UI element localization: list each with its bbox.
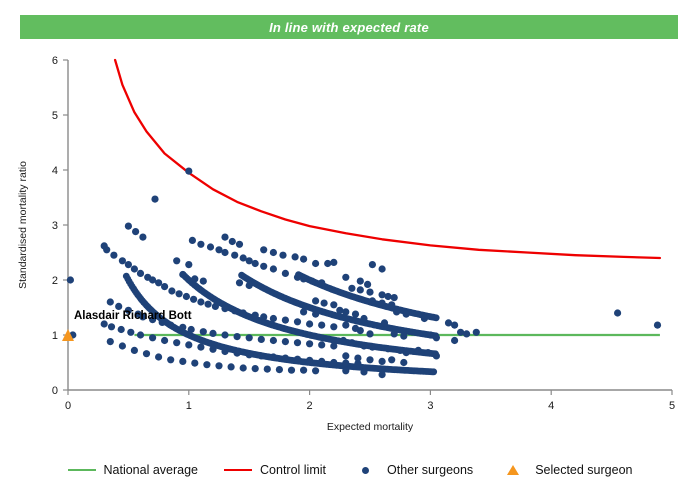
scatter-point-other-surgeon [176,290,183,297]
legend-label-other-surgeons: Other surgeons [387,463,473,477]
scatter-point-other-surgeon [366,356,373,363]
scatter-point-other-surgeon [231,307,238,314]
scatter-point-other-surgeon [318,322,325,329]
scatter-point-other-surgeon [185,168,192,175]
scatter-point-other-surgeon [246,351,253,358]
scatter-point-other-surgeon [321,300,328,307]
legend-item-other-surgeons: Other surgeons [352,463,473,477]
scatter-point-other-surgeon [300,367,307,374]
y-tick-label: 1 [52,330,58,342]
scatter-point-other-surgeon [115,303,122,310]
scatter-point-other-surgeon [433,352,440,359]
scatter-point-other-surgeon [118,326,125,333]
scatter-point-other-surgeon [191,360,198,367]
scatter-point-other-surgeon [415,347,422,354]
y-tick-label: 2 [52,275,58,287]
scatter-point-other-surgeon [379,371,386,378]
scatter-point-other-surgeon [234,333,241,340]
scatter-point-other-surgeon [221,348,228,355]
scatter-point-other-surgeon [246,334,253,341]
scatter-point-other-surgeon [207,243,214,250]
scatter-point-other-surgeon [400,359,407,366]
scatter-point-other-surgeon [215,362,222,369]
scatter-point-other-surgeon [191,275,198,282]
scatter-point-other-surgeon [342,367,349,374]
legend-item-selected-surgeon: Selected surgeon [499,463,632,477]
scatter-point-other-surgeon [366,330,373,337]
scatter-point-other-surgeon [103,246,110,253]
scatter-point-other-surgeon [393,308,400,315]
scatter-point-other-surgeon [221,305,228,312]
scatter-point-other-surgeon [369,344,376,351]
scatter-point-other-surgeon [221,249,228,256]
scatter-point-other-surgeon [357,278,364,285]
chart-container: 0123456012345Expected mortalityStandardi… [0,42,700,442]
scatter-point-other-surgeon [110,252,117,259]
y-tick-label: 0 [52,385,58,397]
scatter-point-other-surgeon [385,345,392,352]
scatter-point-other-surgeon [127,329,134,336]
scatter-point-other-surgeon [300,275,307,282]
scatter-point-other-surgeon [252,312,259,319]
scatter-point-other-surgeon [348,285,355,292]
scatter-point-other-surgeon [185,261,192,268]
scatter-point-other-surgeon [342,322,349,329]
scatter-point-other-surgeon [236,279,243,286]
scatter-point-other-surgeon [312,367,319,374]
scatter-point-other-surgeon [451,337,458,344]
scatter-point-other-surgeon [306,340,313,347]
scatter-point-other-surgeon [167,322,174,329]
chart-legend: National average Control limit Other sur… [0,455,700,485]
scatter-point-other-surgeon [282,355,289,362]
scatter-point-other-surgeon [381,319,388,326]
scatter-point-other-surgeon [200,328,207,335]
funnel-plot-svg: 0123456012345Expected mortalityStandardi… [0,42,700,442]
scatter-point-other-surgeon [403,311,410,318]
scatter-point-other-surgeon [330,301,337,308]
scatter-point-other-surgeon [308,278,315,285]
scatter-point-other-surgeon [258,336,265,343]
scatter-point-other-surgeon [229,238,236,245]
scatter-point-other-surgeon [379,265,386,272]
scatter-point-other-surgeon [107,298,114,305]
scatter-point-other-surgeon [400,333,407,340]
scatter-point-other-surgeon [360,368,367,375]
scatter-point-other-surgeon [143,350,150,357]
scatter-point-other-surgeon [379,300,386,307]
scatter-point-other-surgeon [312,297,319,304]
scatter-point-other-surgeon [385,293,392,300]
legend-item-control-limit: Control limit [224,463,326,477]
scatter-point-other-surgeon [306,357,313,364]
scatter-point-other-surgeon [379,358,386,365]
scatter-point-other-surgeon [221,331,228,338]
scatter-point-other-surgeon [131,347,138,354]
scatter-point-other-surgeon [260,246,267,253]
scatter-point-other-surgeon [209,346,216,353]
scatter-point-other-surgeon [433,334,440,341]
scatter-point-other-surgeon [430,368,437,375]
scatter-point-other-surgeon [282,270,289,277]
scatter-point-other-surgeon [108,323,115,330]
scatter-point-other-surgeon [260,263,267,270]
scatter-point-other-surgeon [240,364,247,371]
scatter-point-other-surgeon [294,318,301,325]
scatter-point-other-surgeon [342,274,349,281]
scatter-point-other-surgeon [190,296,197,303]
scatter-point-other-surgeon [252,260,259,267]
scatter-point-other-surgeon [246,282,253,289]
other-surgeons-scatter-group [67,168,661,379]
scatter-point-other-surgeon [330,342,337,349]
scatter-point-other-surgeon [264,366,271,373]
scatter-point-other-surgeon [473,329,480,336]
scatter-point-other-surgeon [654,322,661,329]
other-surgeons-dot-swatch-icon [362,467,369,474]
scatter-point-other-surgeon [231,252,238,259]
scatter-point-other-surgeon [236,241,243,248]
scatter-point-other-surgeon [357,327,364,334]
scatter-point-other-surgeon [252,365,259,372]
scatter-point-other-surgeon [161,283,168,290]
scatter-point-other-surgeon [240,309,247,316]
scatter-point-other-surgeon [234,350,241,357]
scatter-point-other-surgeon [330,323,337,330]
scatter-point-other-surgeon [294,356,301,363]
scatter-point-other-surgeon [360,315,367,322]
scatter-point-other-surgeon [357,286,364,293]
y-tick-label: 6 [52,55,58,67]
scatter-point-other-surgeon [330,259,337,266]
scatter-point-other-surgeon [185,341,192,348]
scatter-point-other-surgeon [288,367,295,374]
scatter-point-other-surgeon [463,330,470,337]
scatter-point-other-surgeon [614,309,621,316]
y-tick-label: 4 [52,165,58,177]
scatter-point-other-surgeon [212,303,219,310]
x-tick-label: 0 [65,400,71,412]
x-tick-label: 4 [548,400,554,412]
scatter-point-other-surgeon [139,234,146,241]
legend-item-national-average: National average [68,463,199,477]
control-limit-line-swatch-icon [224,469,252,471]
scatter-point-other-surgeon [342,352,349,359]
x-axis-title: Expected mortality [327,421,414,433]
scatter-point-other-surgeon [391,294,398,301]
scatter-point-other-surgeon [354,355,361,362]
scatter-point-other-surgeon [167,356,174,363]
selected-surgeon-annotation: Alasdair Richard Bott [74,310,192,322]
scatter-point-other-surgeon [183,293,190,300]
scatter-point-other-surgeon [260,313,267,320]
scatter-point-other-surgeon [451,322,458,329]
scatter-point-other-surgeon [197,241,204,248]
scatter-point-other-surgeon [282,317,289,324]
scatter-point-other-surgeon [258,352,265,359]
x-tick-label: 1 [186,400,192,412]
scatter-point-other-surgeon [306,320,313,327]
scatter-point-other-surgeon [179,358,186,365]
status-banner-label: In line with expected rate [269,20,429,35]
scatter-point-other-surgeon [348,339,355,346]
scatter-point-other-surgeon [294,274,301,281]
scatter-point-other-surgeon [203,361,210,368]
scatter-point-other-surgeon [388,356,395,363]
scatter-point-other-surgeon [119,257,126,264]
scatter-point-other-surgeon [179,324,186,331]
scatter-point-other-surgeon [364,281,371,288]
scatter-point-other-surgeon [369,297,376,304]
scatter-point-other-surgeon [221,234,228,241]
scatter-point-other-surgeon [228,363,235,370]
scatter-point-other-surgeon [132,228,139,235]
scatter-point-other-surgeon [360,342,367,349]
scatter-point-other-surgeon [67,276,74,283]
scatter-point-other-surgeon [168,287,175,294]
scatter-point-other-surgeon [388,301,395,308]
scatter-point-other-surgeon [318,358,325,365]
scatter-point-other-surgeon [352,311,359,318]
scatter-point-other-surgeon [137,331,144,338]
scatter-point-other-surgeon [318,279,325,286]
y-tick-label: 5 [52,110,58,122]
scatter-point-other-surgeon [369,261,376,268]
scatter-point-other-surgeon [119,342,126,349]
scatter-point-other-surgeon [403,349,410,356]
scatter-point-other-surgeon [292,253,299,260]
scatter-point-other-surgeon [340,337,347,344]
x-tick-label: 5 [669,400,675,412]
scatter-point-other-surgeon [270,265,277,272]
control-limit-curve [115,60,660,258]
scatter-point-other-surgeon [282,338,289,345]
scatter-point-other-surgeon [300,256,307,263]
scatter-point-other-surgeon [189,237,196,244]
scatter-point-other-surgeon [107,338,114,345]
scatter-point-other-surgeon [197,298,204,305]
scatter-point-other-surgeon [276,366,283,373]
scatter-point-other-surgeon [125,261,132,268]
legend-label-selected-surgeon: Selected surgeon [535,463,632,477]
scatter-point-other-surgeon [131,265,138,272]
scatter-point-other-surgeon [433,314,440,321]
scatter-point-other-surgeon [173,257,180,264]
scatter-point-other-surgeon [279,252,286,259]
scatter-point-other-surgeon [209,330,216,337]
scatter-point-other-surgeon [294,339,301,346]
scatter-point-other-surgeon [270,315,277,322]
scatter-point-other-surgeon [324,260,331,267]
scatter-point-other-surgeon [205,301,212,308]
legend-label-national-average: National average [104,463,199,477]
x-tick-label: 2 [307,400,313,412]
scatter-point-other-surgeon [197,344,204,351]
scatter-point-other-surgeon [137,270,144,277]
scatter-point-other-surgeon [161,337,168,344]
scatter-point-other-surgeon [312,260,319,267]
selected-surgeon-triangle-swatch-icon [507,465,519,475]
status-banner: In line with expected rate [20,15,678,39]
scatter-point-other-surgeon [366,289,373,296]
x-tick-label: 3 [427,400,433,412]
scatter-point-other-surgeon [312,311,319,318]
scatter-point-other-surgeon [424,349,431,356]
scatter-point-other-surgeon [200,278,207,285]
y-axis-title: Standardised mortality ratio [17,161,29,289]
scatter-point-other-surgeon [155,353,162,360]
scatter-point-other-surgeon [342,308,349,315]
scatter-point-other-surgeon [270,249,277,256]
funnel-plot-page: In line with expected rate 0123456012345… [0,0,700,500]
scatter-point-other-surgeon [188,326,195,333]
national-average-line-swatch-icon [68,469,96,471]
scatter-point-other-surgeon [342,360,349,367]
scatter-point-other-surgeon [149,334,156,341]
scatter-point-other-surgeon [330,359,337,366]
scatter-point-other-surgeon [155,279,162,286]
scatter-point-other-surgeon [318,341,325,348]
scatter-point-other-surgeon [270,353,277,360]
scatter-point-other-surgeon [151,196,158,203]
legend-label-control-limit: Control limit [260,463,326,477]
scatter-point-other-surgeon [173,339,180,346]
scatter-point-other-surgeon [125,223,132,230]
scatter-point-other-surgeon [270,337,277,344]
scatter-point-other-surgeon [391,330,398,337]
y-tick-label: 3 [52,220,58,232]
scatter-point-other-surgeon [179,271,186,278]
scatter-point-other-surgeon [421,315,428,322]
scatter-point-other-surgeon [300,308,307,315]
